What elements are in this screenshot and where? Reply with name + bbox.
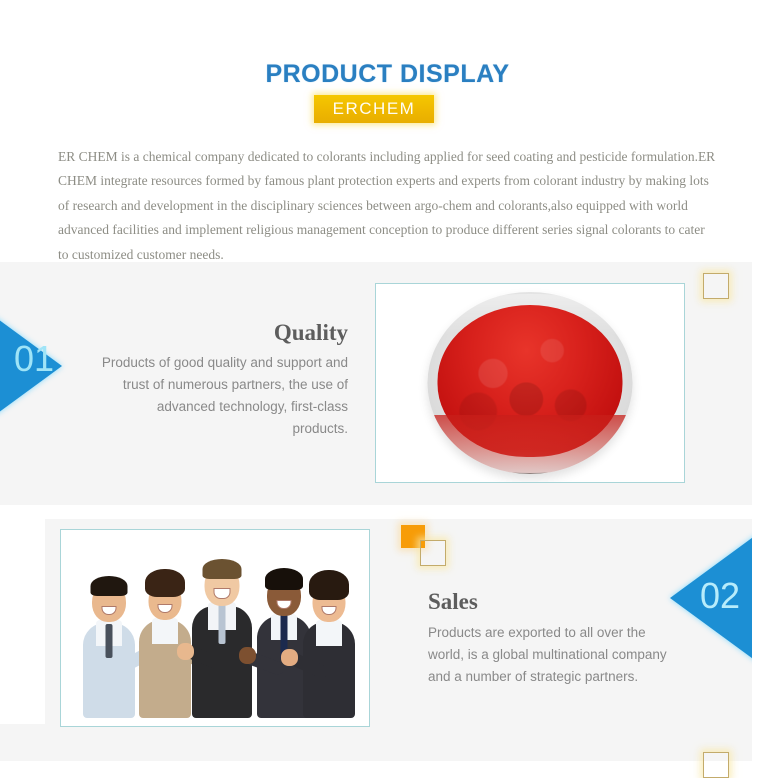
- p3-tie: [219, 604, 226, 644]
- p3-hair: [203, 559, 242, 579]
- section-body-sales: Products are exported to all over the wo…: [428, 622, 683, 688]
- header: PRODUCT DISPLAY ERCHEM ER CHEM is a chem…: [0, 0, 775, 262]
- page-title: PRODUCT DISPLAY: [0, 60, 775, 89]
- brand-badge: ERCHEM: [314, 95, 434, 123]
- team-member-5: [297, 568, 361, 718]
- product-image-quality[interactable]: [375, 283, 685, 483]
- petri-dish-illustration: [376, 284, 684, 482]
- section-number-02: 02: [692, 575, 748, 617]
- intro-paragraph: ER CHEM is a chemical company dedicated …: [58, 145, 718, 268]
- right-margin-strip: [752, 0, 775, 761]
- dish-glass-base: [434, 415, 627, 474]
- petri-dish: [428, 292, 633, 474]
- decor-square-outline-middle: [420, 540, 446, 566]
- team-member-1: [77, 568, 141, 718]
- panel-divider: [0, 505, 775, 519]
- section-heading-quality: Quality: [100, 320, 348, 346]
- section-heading-sales: Sales: [428, 589, 688, 615]
- decor-square-outline-top-right: [703, 273, 729, 299]
- team-photo-illustration: [61, 530, 369, 726]
- p2-shirt: [152, 618, 178, 644]
- panel-sales-left-notch: [0, 519, 45, 724]
- section-number-01: 01: [6, 338, 62, 380]
- p5-fist: [281, 649, 298, 666]
- p1-hair: [91, 576, 128, 596]
- p3-fist: [177, 643, 194, 660]
- p5-shirt: [316, 620, 342, 646]
- brand-badge-label: ERCHEM: [314, 95, 434, 123]
- p2-hair: [145, 569, 185, 597]
- p5-hair: [309, 570, 349, 600]
- section-body-quality: Products of good quality and support and…: [98, 352, 348, 440]
- p4-fist: [239, 647, 256, 664]
- p3-mouth: [214, 588, 231, 599]
- product-image-sales[interactable]: [60, 529, 370, 727]
- team-member-3: [187, 546, 257, 718]
- decor-square-outline-bottom: [703, 752, 729, 778]
- p1-tie: [106, 624, 113, 658]
